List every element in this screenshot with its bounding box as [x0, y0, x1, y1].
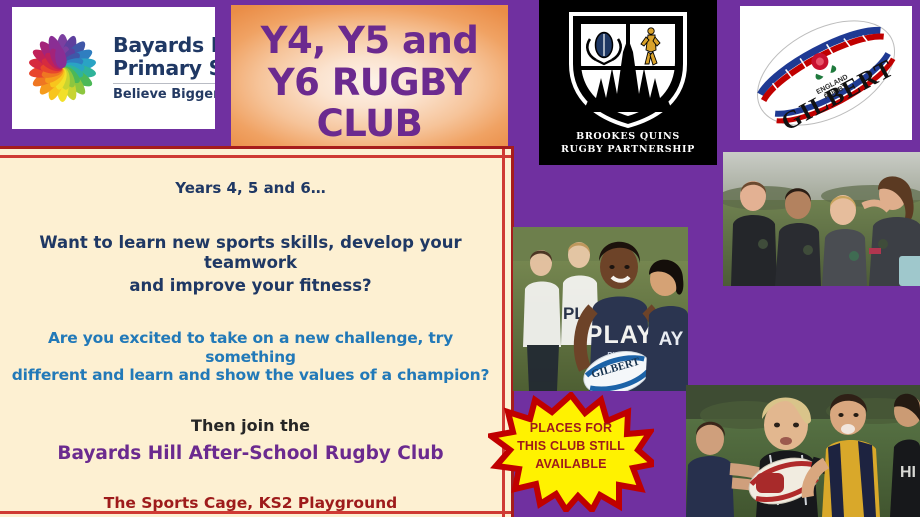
photo-tackle: HI — [686, 385, 920, 517]
title-line-1: Y4, Y5 and — [261, 20, 479, 62]
question2-line1: Are you excited to take on a new challen… — [6, 329, 495, 367]
rugby-ball-card: ENGLAND RUGBY GILBERT — [740, 6, 912, 140]
svg-text:AY: AY — [659, 329, 684, 350]
photo-girls-team — [723, 152, 920, 286]
school-logo-card: Bayards Hill Primary School Believe Bigg… — [12, 7, 215, 129]
school-name-line1: Bayards Hill — [113, 34, 215, 56]
rugby-club-poster: Bayards Hill Primary School Believe Bigg… — [0, 0, 920, 517]
crest-caption: BROOKES QUINS RUGBY PARTNERSHIP — [539, 131, 717, 157]
crest-caption-line1: BROOKES QUINS — [539, 131, 717, 144]
title-panel: Y4, Y5 and Y6 RUGBY CLUB — [231, 5, 508, 160]
starburst-icon — [488, 392, 654, 512]
shield-crest-icon — [565, 8, 691, 130]
svg-text:PLAY: PLAY — [586, 321, 654, 349]
club-name: Bayards Hill After-School Rugby Club — [6, 443, 495, 466]
text-panel: Years 4, 5 and 6… Want to learn new spor… — [0, 146, 514, 517]
title-line-2: Y6 RUGBY — [268, 62, 471, 104]
crest-caption-line2: RUGBY PARTNERSHIP — [539, 144, 717, 157]
rugby-ball-icon: ENGLAND RUGBY GILBERT — [740, 6, 912, 140]
years-line: Years 4, 5 and 6… — [6, 179, 495, 197]
question1-line1: Want to learn new sports skills, develop… — [6, 233, 495, 273]
text-panel-content: Years 4, 5 and 6… Want to learn new spor… — [6, 165, 495, 517]
question1-line2: and improve your fitness? — [6, 276, 495, 296]
question2-line2: different and learn and show the values … — [6, 366, 495, 385]
join-line: Then join the — [6, 416, 495, 436]
photo-play-rugby: PLA PLAY RUGBY GILBERT — [513, 227, 688, 391]
school-tagline: Believe Bigger, Aim Higher — [113, 87, 215, 102]
school-logo-text: Bayards Hill Primary School Believe Bigg… — [113, 34, 215, 101]
title-line-3: CLUB — [317, 103, 423, 145]
logo-divider — [113, 83, 215, 84]
venue-line: The Sports Cage, KS2 Playground — [6, 494, 495, 513]
school-logo-flower-icon — [18, 24, 106, 112]
places-available-badge: PLACES FOR THIS CLUB STILL AVAILABLE — [488, 392, 654, 512]
school-name-line2: Primary School — [113, 57, 215, 79]
svg-text:HI: HI — [900, 464, 916, 481]
brookes-quins-crest-panel: BROOKES QUINS RUGBY PARTNERSHIP — [539, 0, 717, 165]
